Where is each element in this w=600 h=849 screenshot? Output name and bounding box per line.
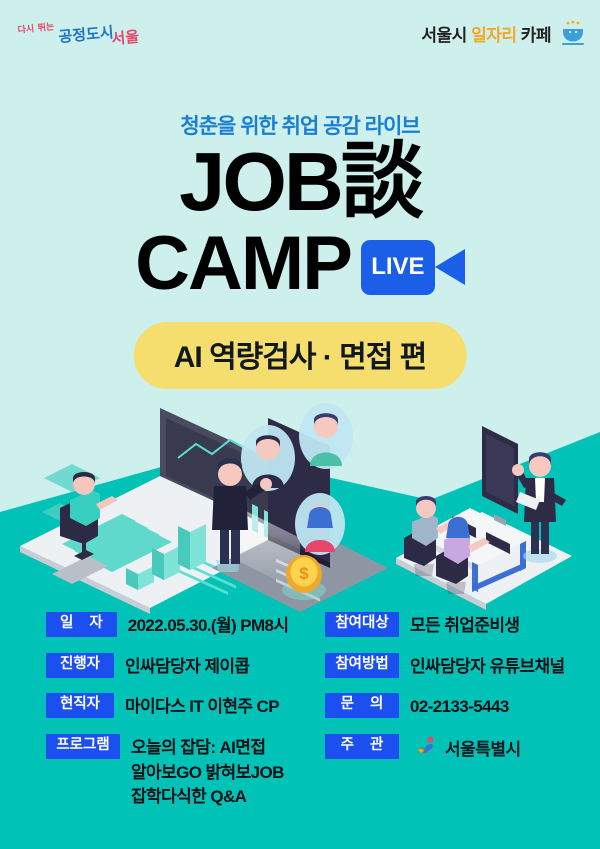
info-value-date-line: 2022.05.30.(월) PM8시 bbox=[128, 614, 289, 639]
scene-video-call: $ bbox=[212, 403, 388, 616]
info-value-program-line-2: 알아보GO 밝혀보JOB bbox=[131, 761, 284, 786]
info-value-program: 오늘의 잡담: AI면접 알아보GO 밝혀보JOB 잡학다식한 Q&A bbox=[131, 734, 284, 810]
info-value-method: 인싸담당자 유튜브채널 bbox=[410, 653, 565, 680]
info-column-left: 일 자 2022.05.30.(월) PM8시 진행자 인싸담당자 제이콥 현직… bbox=[46, 612, 326, 824]
jobcafe-highlight: 일자리 bbox=[471, 26, 516, 45]
svg-text:다시: 다시 bbox=[17, 22, 35, 35]
info-label-contact: 문 의 bbox=[325, 693, 399, 718]
info-row-host: 진행자 인싸담당자 제이콥 bbox=[46, 653, 326, 680]
poster: 다시 뛰는 공정도시 서울 서울시 일자리 카페 청춘을 bbox=[0, 0, 600, 849]
seoul-city-mark-icon bbox=[415, 735, 439, 759]
hero-title-line2: CAMP bbox=[135, 226, 351, 302]
avatar-bubble-2 bbox=[299, 403, 353, 469]
scene-interview-room bbox=[396, 426, 572, 616]
seoul-city-logo: 서울특별시 bbox=[415, 734, 521, 760]
info-value-audience-line: 모든 취업준비생 bbox=[410, 614, 519, 639]
jobcafe-logo: 서울시 일자리 카페 bbox=[421, 20, 586, 46]
info-label-guest: 현직자 bbox=[46, 693, 114, 718]
coffee-cup-icon bbox=[560, 20, 586, 46]
info-value-host: 인싸담당자 제이콥 bbox=[125, 653, 249, 680]
seoul-city-logo-text: 서울특별시 bbox=[445, 735, 521, 760]
svg-text:공정도시: 공정도시 bbox=[58, 23, 115, 46]
info-row-organizer: 주 관 서울특별시 bbox=[325, 734, 595, 760]
live-label: LIVE bbox=[371, 253, 424, 281]
info-value-program-line-1: 오늘의 잡담: AI면접 bbox=[131, 736, 284, 761]
info-value-contact: 02-2133-5443 bbox=[410, 693, 509, 720]
info-row-program: 프로그램 오늘의 잡담: AI면접 알아보GO 밝혀보JOB 잡학다식한 Q&A bbox=[46, 734, 326, 810]
info-value-audience: 모든 취업준비생 bbox=[410, 612, 519, 639]
info-label-program: 프로그램 bbox=[46, 734, 120, 759]
info-label-method: 참여방법 bbox=[325, 653, 399, 678]
info-value-guest: 마이다스 IT 이현주 CP bbox=[125, 693, 279, 720]
info-label-date: 일 자 bbox=[46, 612, 117, 637]
info-label-host: 진행자 bbox=[46, 653, 114, 678]
info-column-right: 참여대상 모든 취업준비생 참여방법 인싸담당자 유튜브채널 문 의 02-21… bbox=[325, 612, 595, 774]
info-row-guest: 현직자 마이다스 IT 이현주 CP bbox=[46, 693, 326, 720]
hero-title-line2-row: CAMP LIVE bbox=[0, 226, 600, 302]
live-badge-body: LIVE bbox=[361, 240, 435, 295]
jobcafe-suffix: 카페 bbox=[521, 26, 551, 45]
jobcafe-prefix: 서울시 bbox=[421, 26, 466, 45]
seoul-slogan-logo-icon: 다시 뛰는 공정도시 서울 bbox=[16, 20, 146, 50]
info-label-organizer: 주 관 bbox=[325, 734, 399, 759]
info-value-host-line: 인싸담당자 제이콥 bbox=[125, 655, 249, 680]
info-row-audience: 참여대상 모든 취업준비생 bbox=[325, 612, 595, 639]
hero-illustration: $ bbox=[0, 396, 600, 616]
info-row-date: 일 자 2022.05.30.(월) PM8시 bbox=[46, 612, 326, 639]
info-value-program-line-3: 잡학다식한 Q&A bbox=[131, 785, 284, 810]
info-row-method: 참여방법 인싸담당자 유튜브채널 bbox=[325, 653, 595, 680]
info-value-contact-line: 02-2133-5443 bbox=[410, 695, 509, 720]
live-badge: LIVE bbox=[361, 240, 465, 295]
info-row-contact: 문 의 02-2133-5443 bbox=[325, 693, 595, 720]
hero-subject-pill: AI 역량검사 · 면접 편 bbox=[134, 322, 467, 389]
hero-title-line1: JOB談 bbox=[0, 140, 600, 223]
avatar-bubble-3 bbox=[295, 493, 345, 555]
poster-header: 다시 뛰는 공정도시 서울 서울시 일자리 카페 bbox=[0, 0, 600, 62]
video-camera-icon bbox=[435, 249, 465, 285]
svg-text:뛰는: 뛰는 bbox=[37, 21, 55, 33]
svg-text:서울: 서울 bbox=[111, 29, 140, 48]
info-value-guest-line: 마이다스 IT 이현주 CP bbox=[125, 695, 279, 720]
info-label-audience: 참여대상 bbox=[325, 612, 399, 637]
jobcafe-logo-text: 서울시 일자리 카페 bbox=[421, 21, 551, 46]
info-value-method-line: 인싸담당자 유튜브채널 bbox=[410, 655, 565, 680]
info-section: 일 자 2022.05.30.(월) PM8시 진행자 인싸담당자 제이콥 현직… bbox=[0, 612, 600, 812]
info-value-date: 2022.05.30.(월) PM8시 bbox=[128, 612, 289, 639]
svg-text:$: $ bbox=[299, 564, 309, 583]
